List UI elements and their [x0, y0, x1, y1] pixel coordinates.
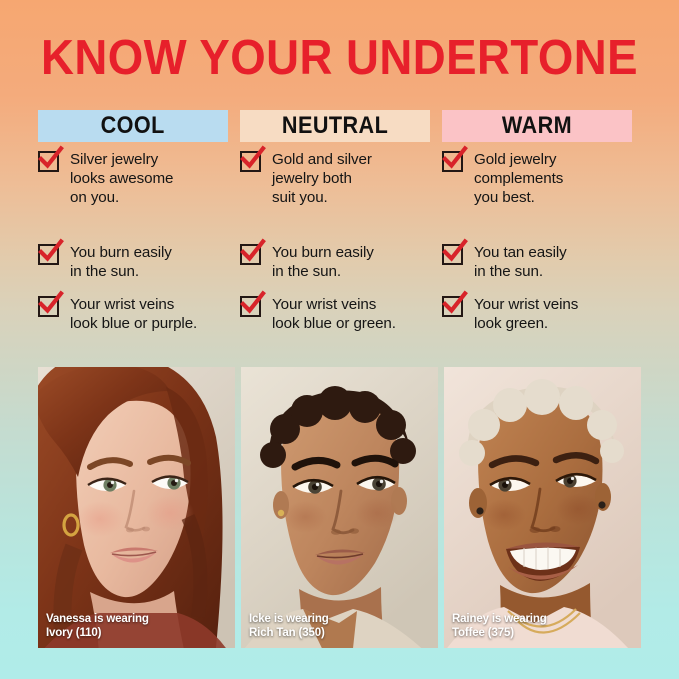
checkmark-icon	[442, 244, 462, 264]
checkmark-icon	[38, 151, 58, 171]
photo-image-vanessa: Vanessa is wearing Ivory (110)	[38, 367, 235, 648]
checklist-item: You tan easily in the sun.	[442, 243, 674, 281]
column-header-neutral-label: NEUTRAL	[282, 112, 388, 140]
checklist-item-text: Gold jewelry complements you best.	[474, 150, 674, 208]
column-header-warm-label: WARM	[502, 112, 572, 140]
checklist-item-text: You tan easily in the sun.	[474, 243, 674, 281]
checklist-item-text: Your wrist veins look green.	[474, 295, 674, 333]
checkmark-icon	[442, 151, 462, 171]
checklist-item: Your wrist veins look blue or purple.	[38, 295, 270, 333]
column-header-warm: WARM	[442, 110, 632, 142]
undertone-header-row: COOL NEUTRAL WARM	[38, 110, 641, 142]
checkmark-icon	[240, 151, 260, 171]
infographic-poster: KNOW YOUR UNDERTONE COOL NEUTRAL WARM Si…	[0, 0, 679, 679]
column-header-cool: COOL	[38, 110, 228, 142]
checkmark-icon	[38, 244, 58, 264]
checklist-item: Gold and silver jewelry both suit you.	[240, 150, 472, 208]
checkmark-icon	[38, 296, 58, 316]
portrait-illustration	[241, 367, 438, 648]
model-photo-cool: Vanessa is wearing Ivory (110)	[38, 367, 235, 648]
checklist-item: You burn easily in the sun.	[240, 243, 472, 281]
photo-caption: Rainey is wearing Toffee (375)	[452, 613, 547, 640]
checklist-item: You burn easily in the sun.	[38, 243, 270, 281]
portrait-illustration	[38, 367, 235, 648]
photo-caption: Vanessa is wearing Ivory (110)	[46, 613, 149, 640]
checkmark-icon	[240, 244, 260, 264]
photo-caption: Icke is wearing Rich Tan (350)	[249, 613, 329, 640]
model-photo-row: Vanessa is wearing Ivory (110)	[38, 367, 641, 648]
portrait-illustration	[444, 367, 641, 648]
model-photo-warm: Rainey is wearing Toffee (375)	[444, 367, 641, 648]
checkmark-icon	[240, 296, 260, 316]
checklist-item: Your wrist veins look blue or green.	[240, 295, 472, 333]
checklist-item: Gold jewelry complements you best.	[442, 150, 674, 208]
checklist-item: Your wrist veins look green.	[442, 295, 674, 333]
checklist-item: Silver jewelry looks awesome on you.	[38, 150, 270, 208]
photo-image-icke: Icke is wearing Rich Tan (350)	[241, 367, 438, 648]
model-photo-neutral: Icke is wearing Rich Tan (350)	[241, 367, 438, 648]
column-header-neutral: NEUTRAL	[240, 110, 430, 142]
photo-image-rainey: Rainey is wearing Toffee (375)	[444, 367, 641, 648]
page-title: KNOW YOUR UNDERTONE	[24, 30, 655, 86]
checkmark-icon	[442, 296, 462, 316]
column-header-cool-label: COOL	[101, 112, 165, 140]
